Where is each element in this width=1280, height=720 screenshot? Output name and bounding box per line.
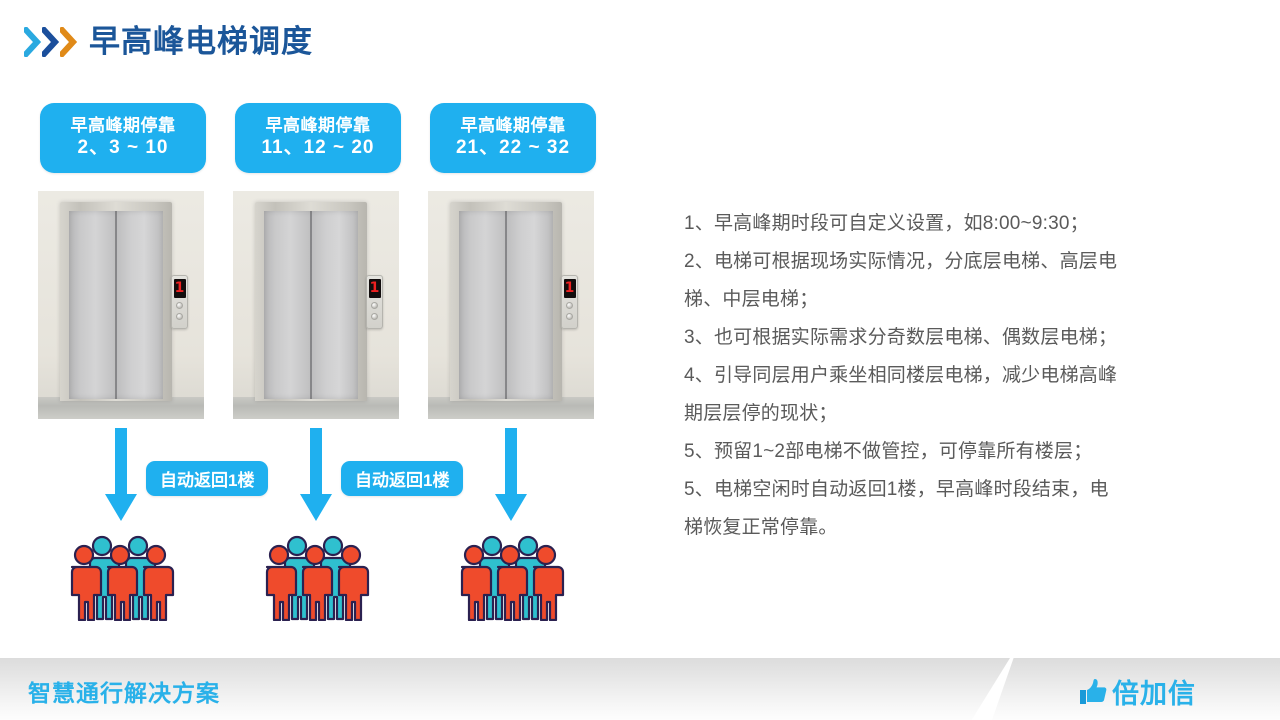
- elevator-door-frame: [450, 202, 562, 401]
- note-line-7: 5、预留1~2部电梯不做管控，可停靠所有楼层；: [684, 433, 1194, 471]
- chevron-right-icon-1: [24, 27, 41, 57]
- elevator-doors: [264, 211, 358, 399]
- note-line-9: 梯恢复正常停靠。: [684, 509, 1194, 547]
- footer-solution-title: 智慧通行解决方案: [28, 674, 220, 708]
- elevator-down-button-icon: [566, 313, 573, 320]
- elevator-up-button-icon: [371, 302, 378, 309]
- brand-name: 倍加信: [1112, 672, 1196, 711]
- note-line-1: 1、早高峰期时段可自定义设置，如8:00~9:30；: [684, 205, 1194, 243]
- elevator-doors: [459, 211, 553, 399]
- stop-range-card-3-floors: 21、22 ~ 32: [456, 136, 570, 161]
- elevator-photo-1: 1: [38, 191, 204, 419]
- elevator-door-seam: [310, 211, 312, 399]
- page-header: 早高峰电梯调度: [24, 26, 313, 57]
- elevator-floor-display-3: 1: [564, 279, 576, 298]
- stop-range-card-2-floors: 11、12 ~ 20: [261, 136, 374, 161]
- arrow-down-icon-2: [299, 428, 333, 523]
- feature-notes-list: 1、早高峰期时段可自定义设置，如8:00~9:30； 2、电梯可根据现场实际情况…: [684, 205, 1194, 547]
- elevator-door-seam: [505, 211, 507, 399]
- page-title: 早高峰电梯调度: [89, 26, 313, 57]
- people-group-icon-3: [454, 533, 566, 621]
- stop-range-card-3[interactable]: 早高峰期停靠 21、22 ~ 32: [430, 103, 596, 173]
- note-line-5: 4、引导同层用户乘坐相同楼层电梯，减少电梯高峰: [684, 357, 1194, 395]
- note-line-3: 梯、中层电梯；: [684, 281, 1194, 319]
- elevator-call-panel-1: 1: [171, 275, 188, 329]
- note-line-4: 3、也可根据实际需求分奇数层电梯、偶数层电梯；: [684, 319, 1194, 357]
- elevator-down-button-icon: [371, 313, 378, 320]
- arrow-down-icon-3: [494, 428, 528, 523]
- auto-return-label-2[interactable]: 自动返回1楼: [341, 461, 463, 496]
- elevator-call-panel-3: 1: [561, 275, 578, 329]
- arrow-down-icon-1: [104, 428, 138, 523]
- elevator-photo-2: 1: [233, 191, 399, 419]
- elevator-door-frame: [255, 202, 367, 401]
- elevator-door-seam: [115, 211, 117, 399]
- people-group-icon-1: [64, 533, 176, 621]
- people-group-icon-2: [259, 533, 371, 621]
- elevator-door-frame: [60, 202, 172, 401]
- auto-return-label-1[interactable]: 自动返回1楼: [146, 461, 268, 496]
- footer-bar: 智慧通行解决方案 倍加信: [0, 658, 1280, 720]
- stop-range-card-1[interactable]: 早高峰期停靠 2、3 ~ 10: [40, 103, 206, 173]
- chevron-right-icon-3: [60, 27, 77, 57]
- note-line-6: 期层层停的现状；: [684, 395, 1194, 433]
- elevator-up-button-icon: [176, 302, 183, 309]
- thumbs-up-icon: [1078, 678, 1108, 706]
- note-line-8: 5、电梯空闲时自动返回1楼，早高峰时段结束，电: [684, 471, 1194, 509]
- stop-range-card-1-floors: 2、3 ~ 10: [78, 136, 169, 161]
- stop-range-card-3-heading: 早高峰期停靠: [461, 115, 566, 136]
- elevator-down-button-icon: [176, 313, 183, 320]
- chevron-right-icon-2: [42, 27, 59, 57]
- stop-range-card-2[interactable]: 早高峰期停靠 11、12 ~ 20: [235, 103, 401, 173]
- elevator-photo-3: 1: [428, 191, 594, 419]
- elevator-up-button-icon: [566, 302, 573, 309]
- chevron-group-icon: [24, 27, 77, 57]
- elevator-floor-display-2: 1: [369, 279, 381, 298]
- stop-range-card-2-heading: 早高峰期停靠: [266, 115, 371, 136]
- elevator-doors: [69, 211, 163, 399]
- elevator-floor-display-1: 1: [174, 279, 186, 298]
- elevator-call-panel-2: 1: [366, 275, 383, 329]
- note-line-2: 2、电梯可根据现场实际情况，分底层电梯、高层电: [684, 243, 1194, 281]
- brand-logo: 倍加信: [1078, 672, 1196, 711]
- stop-range-card-1-heading: 早高峰期停靠: [71, 115, 176, 136]
